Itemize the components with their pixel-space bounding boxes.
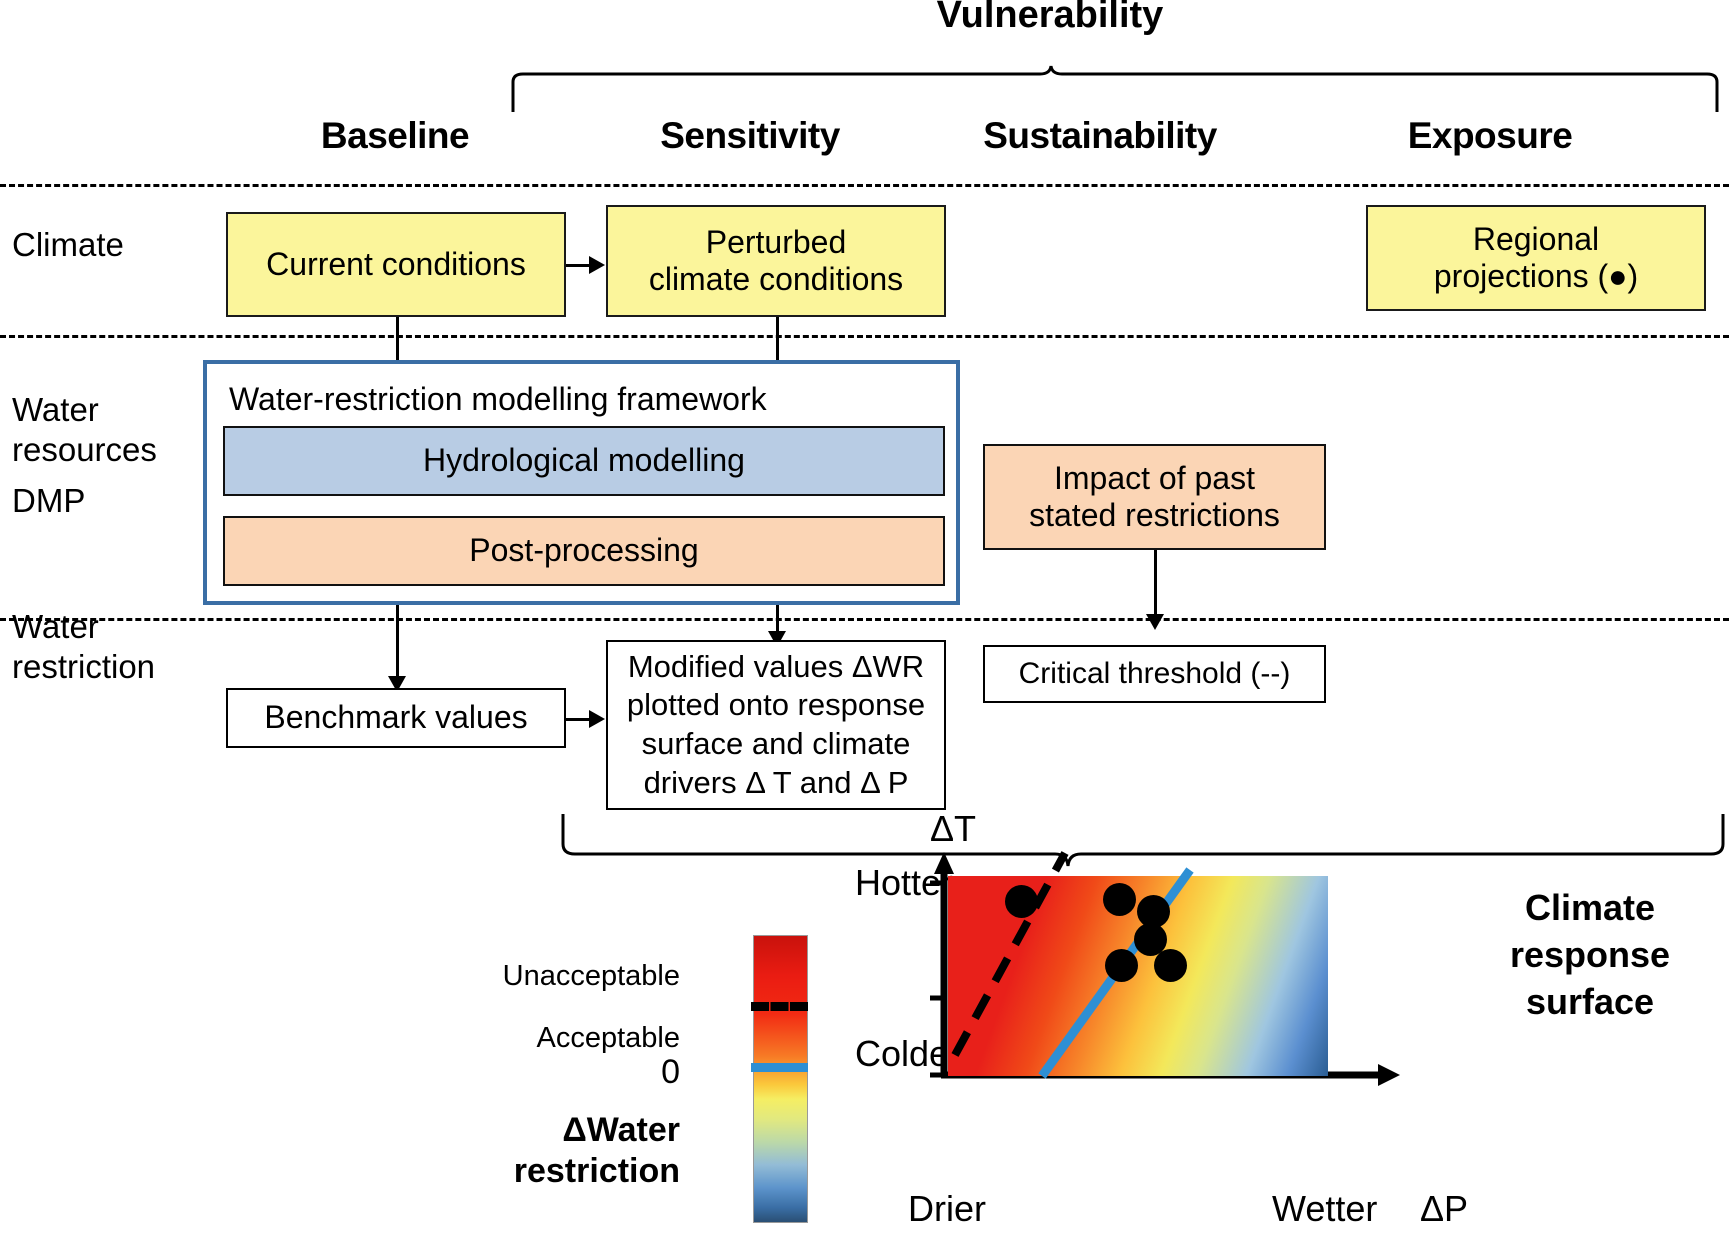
row-separator-water-restriction (0, 618, 1729, 621)
crs-caption-line3: surface (1445, 979, 1729, 1026)
colorbar-threshold-dashed-marker (751, 1002, 808, 1011)
box-impact-past-restrictions[interactable]: Impact of past stated restrictions (983, 444, 1326, 550)
row-label-water-resources: Water resources (12, 390, 157, 470)
row-label-water-restriction-line1: Water (12, 607, 155, 647)
column-header-baseline: Baseline (245, 115, 545, 157)
row-label-water-restriction-line2: restriction (12, 647, 155, 687)
projection-point (1154, 949, 1187, 982)
row-separator-climate-water (0, 335, 1729, 338)
legend-acceptable-label: Acceptable (500, 1022, 680, 1055)
row-label-dmp: DMP (12, 481, 85, 521)
arrow-current-to-perturbed-head (589, 256, 605, 274)
box-post-processing[interactable]: Post-processing (223, 516, 945, 586)
crs-caption-line2: response (1445, 932, 1729, 979)
box-regional-projections[interactable]: Regional projections (●) (1366, 205, 1706, 311)
axis-label-delta-p: ΔP (1420, 1188, 1468, 1230)
arrow-benchmark-to-modified-head (589, 710, 605, 728)
legend-colorbar-title-line2: restriction (450, 1151, 680, 1192)
box-hydrological-modelling[interactable]: Hydrological modelling (223, 426, 945, 496)
connector-impact-to-threshold (1154, 550, 1157, 618)
row-label-water-restriction: Water restriction (12, 607, 155, 687)
row-label-climate: Climate (12, 225, 124, 265)
climate-response-surface-caption: Climate response surface (1445, 885, 1729, 1025)
arrow-current-to-perturbed-line (566, 264, 590, 267)
colorbar (753, 935, 808, 1223)
arrow-benchmark-to-modified-line (566, 718, 590, 721)
row-separator-top (0, 184, 1729, 187)
column-header-sensitivity: Sensitivity (600, 115, 900, 157)
crs-caption-line1: Climate (1445, 885, 1729, 932)
box-benchmark-values[interactable]: Benchmark values (226, 688, 566, 748)
row-label-water-resources-line2: resources (12, 430, 157, 470)
column-header-exposure: Exposure (1340, 115, 1640, 157)
column-header-sustainability: Sustainability (935, 115, 1265, 157)
legend-unacceptable-label: Unacceptable (500, 960, 680, 993)
projection-point (1103, 883, 1136, 916)
legend-zero-label: 0 (500, 1053, 680, 1092)
connector-perturbed-to-framework (776, 317, 779, 362)
legend-colorbar-title: ΔWater restriction (450, 1110, 680, 1192)
box-critical-threshold[interactable]: Critical threshold (--) (983, 645, 1326, 703)
plot-overlays (900, 820, 1380, 1110)
box-modelling-framework[interactable]: Water-restriction modelling framework Hy… (203, 360, 960, 605)
box-perturbed-climate[interactable]: Perturbed climate conditions (606, 205, 946, 317)
row-label-water-resources-line1: Water (12, 390, 157, 430)
framework-title: Water-restriction modelling framework (207, 381, 978, 418)
page-title: Vulnerability (850, 0, 1250, 37)
critical-threshold-line (955, 853, 1065, 1055)
vulnerability-bracket (505, 60, 1725, 115)
legend-colorbar-title-line1: ΔWater (450, 1110, 680, 1151)
projection-point (1005, 885, 1038, 918)
connector-framework-to-benchmark (396, 605, 399, 680)
arrowhead-impact-to-threshold (1146, 614, 1164, 630)
projection-point (1105, 949, 1138, 982)
box-current-conditions[interactable]: Current conditions (226, 212, 566, 317)
colorbar-zero-blue-marker (751, 1063, 808, 1072)
x-tick-wetter: Wetter (1272, 1188, 1377, 1230)
box-modified-values[interactable]: Modified values ΔWR plotted onto respons… (606, 640, 946, 810)
x-tick-drier: Drier (908, 1188, 986, 1230)
connector-current-to-framework (396, 317, 399, 362)
